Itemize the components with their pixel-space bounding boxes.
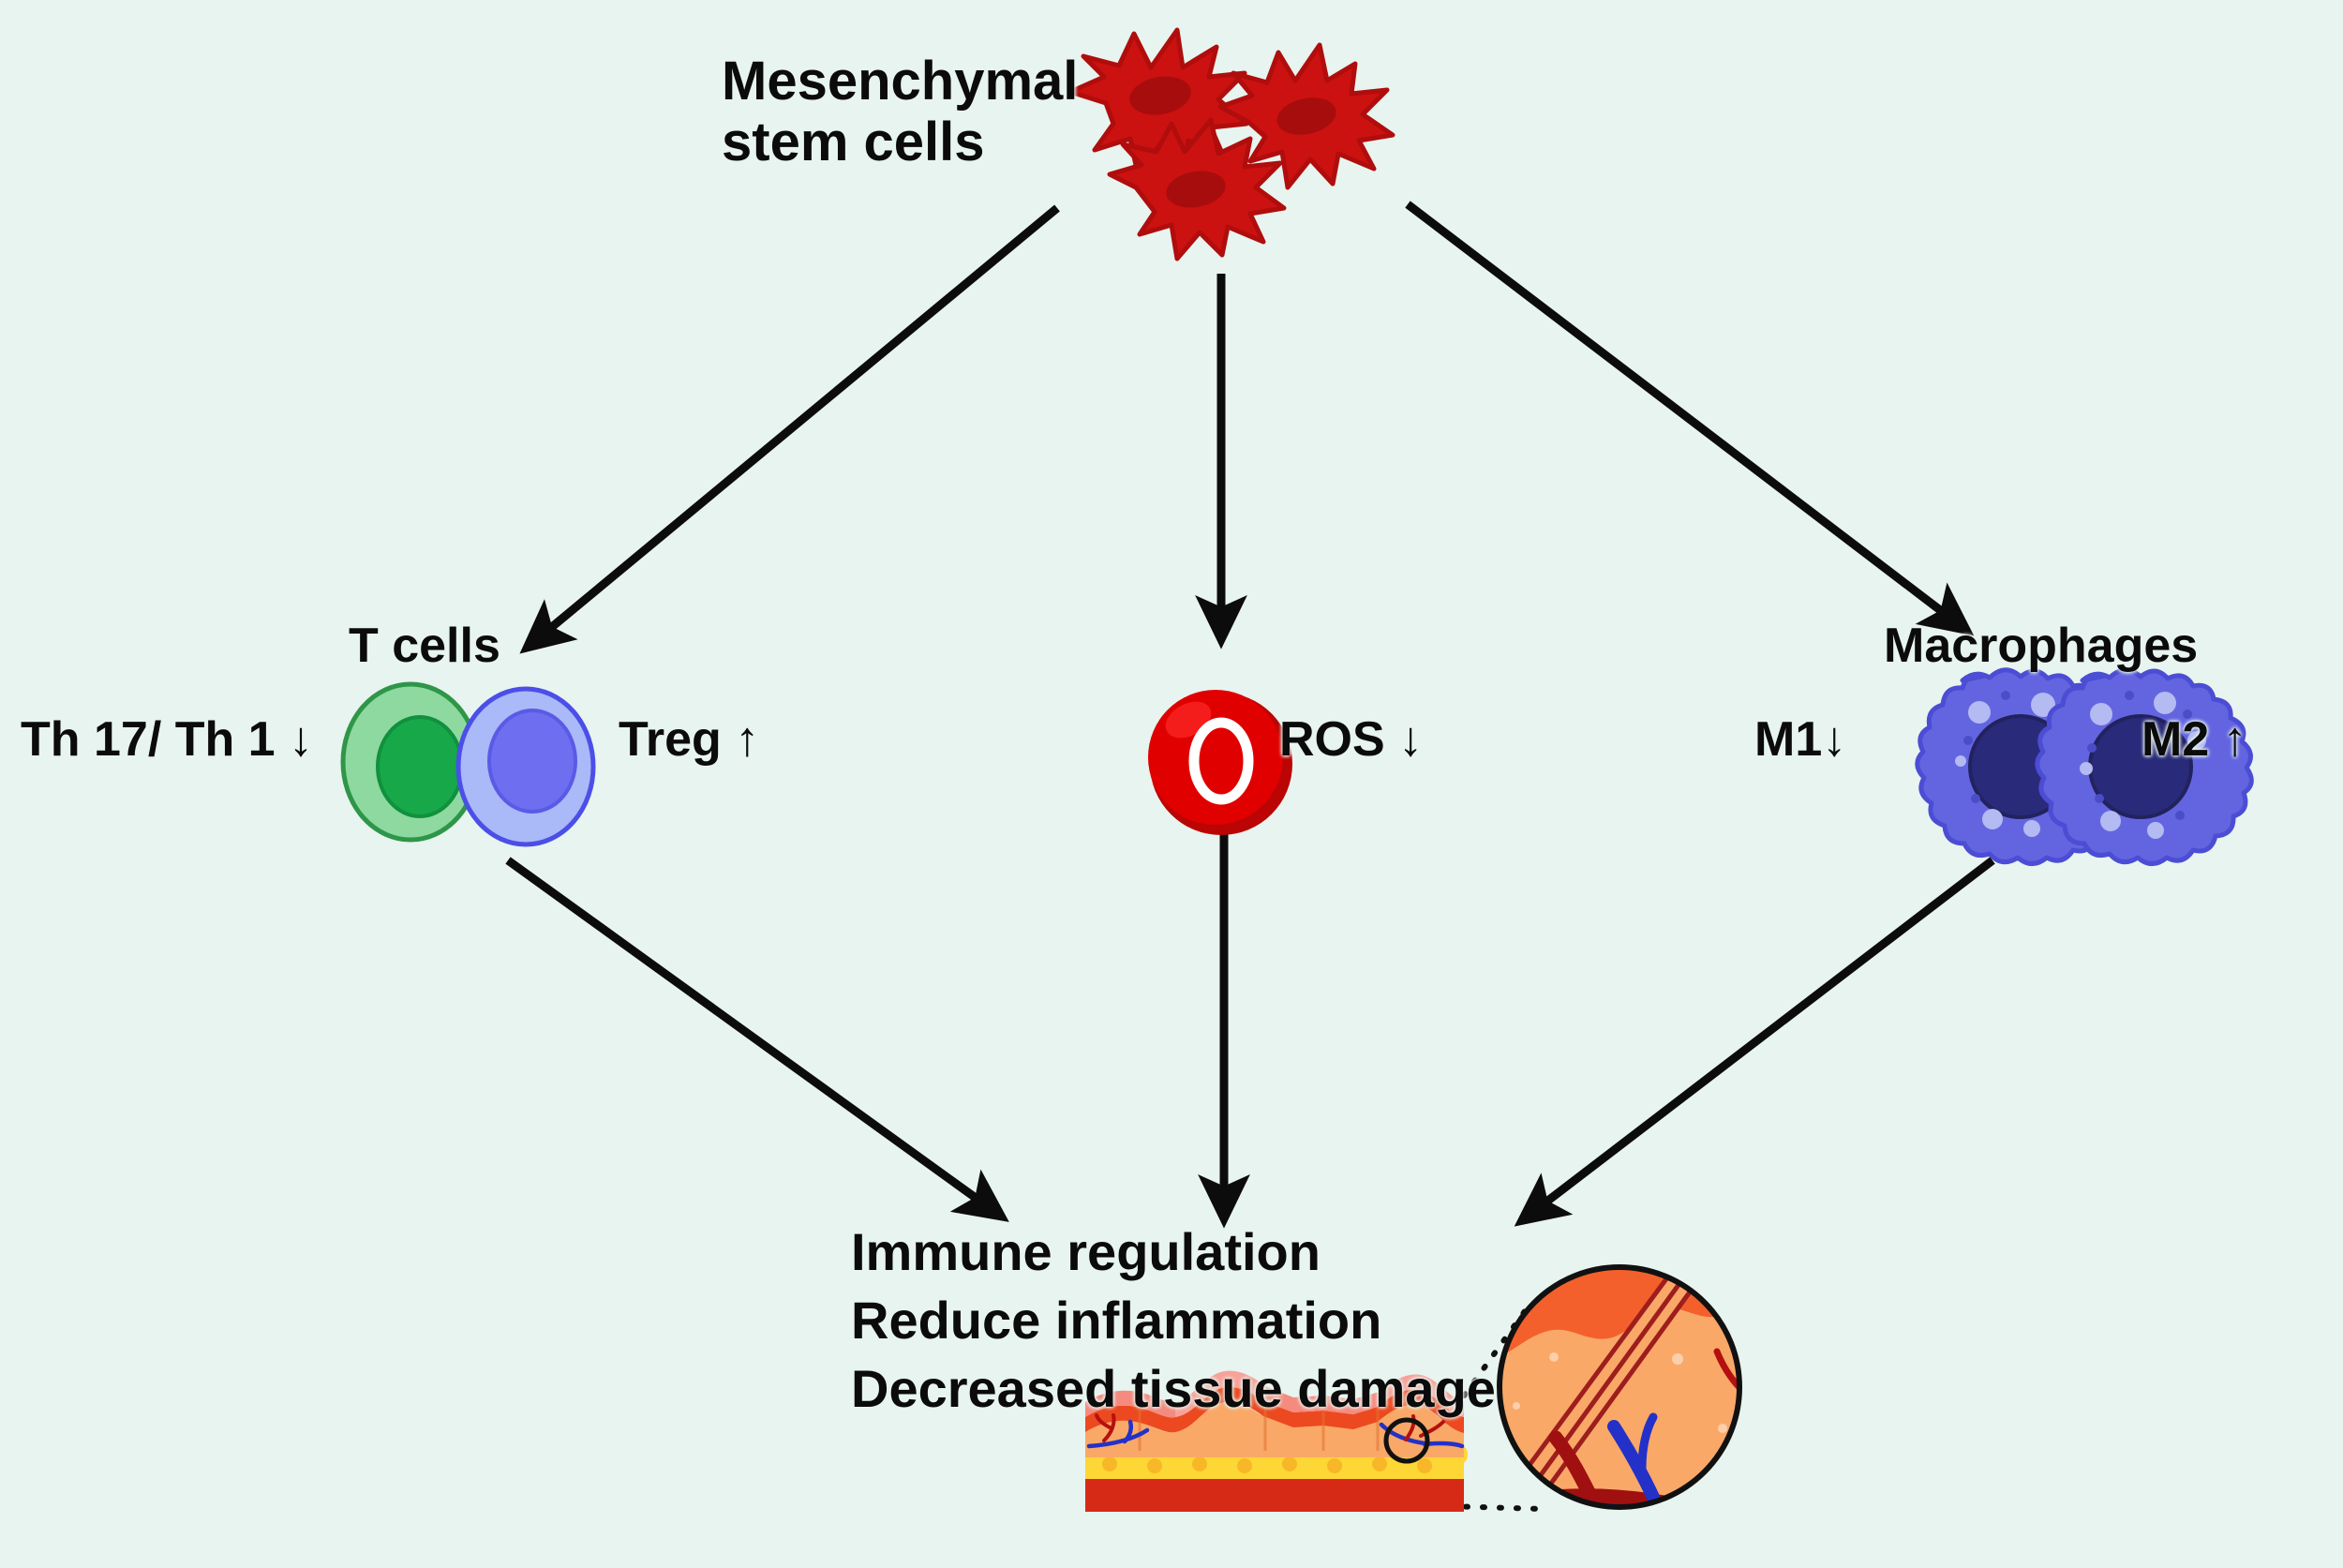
m2-label: M2 ↑ — [2142, 712, 2247, 767]
page-title: Mesenchymalstem cells — [722, 52, 1078, 173]
outcome-line-1: Immune regulation — [851, 1222, 1321, 1281]
msc-title-line2: stem cells — [722, 112, 985, 172]
outcome-line-2: Reduce inflammation — [851, 1291, 1381, 1350]
macrophages-title: Macrophages — [1884, 619, 2198, 673]
ros-label: ROS ↓ — [1279, 712, 1423, 767]
mag-vein — [1496, 1512, 1758, 1526]
tcells-title: T cells — [349, 619, 500, 673]
mag-artery — [1500, 1499, 1762, 1524]
outcome-line-3: Decreased tissue damage — [851, 1359, 1496, 1418]
figure-canvas: Mesenchymalstem cells T cells Th 17/ Th … — [0, 0, 2343, 1568]
th17-th1-label: Th 17/ Th 1 ↓ — [21, 712, 313, 767]
outcome-text-block: Immune regulationReduce inflammationDecr… — [851, 1218, 1496, 1423]
treg-label: Treg ↑ — [619, 712, 759, 767]
magnified-vessel-circle-icon — [1481, 1256, 1781, 1526]
msc-title-line1: Mesenchymal — [722, 51, 1078, 112]
m1-label: M1↓ — [1754, 712, 1846, 767]
